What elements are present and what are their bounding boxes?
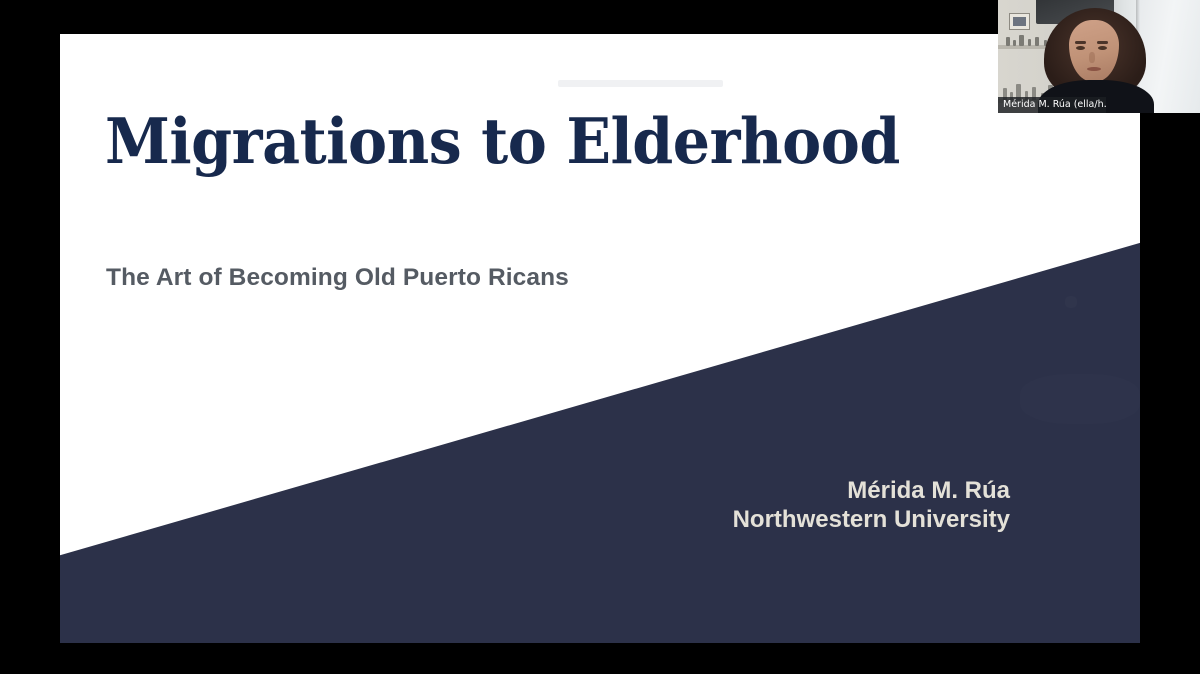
person-nose <box>1089 52 1095 63</box>
compression-artifact <box>1065 296 1077 308</box>
presentation-slide: Migrations to Elderhood The Art of Becom… <box>60 34 1140 643</box>
person-eye-right <box>1098 46 1107 50</box>
person-eye-left <box>1076 46 1085 50</box>
slide-presenter-credit: Mérida M. Rúa Northwestern University <box>733 476 1010 534</box>
slide-subtitle: The Art of Becoming Old Puerto Ricans <box>106 264 569 292</box>
person-eyebrow-left <box>1075 41 1086 44</box>
screen-share-viewport: Migrations to Elderhood The Art of Becom… <box>0 0 1200 674</box>
presenter-name: Mérida M. Rúa <box>733 476 1010 505</box>
person-eyebrow-right <box>1097 41 1108 44</box>
compression-artifact <box>1060 150 1086 162</box>
presenter-affiliation: Northwestern University <box>733 505 1010 534</box>
framed-picture <box>1009 13 1030 30</box>
participant-name-label: Mérida M. Rúa (ella/h… <box>998 97 1106 113</box>
faint-text-artifact <box>558 80 723 87</box>
compression-artifact <box>1020 374 1140 424</box>
compression-artifact <box>132 490 154 500</box>
participant-video-tile[interactable]: Mérida M. Rúa (ella/h… <box>998 0 1200 113</box>
slide-title: Migrations to Elderhood <box>105 108 900 174</box>
person-mouth <box>1087 67 1101 71</box>
